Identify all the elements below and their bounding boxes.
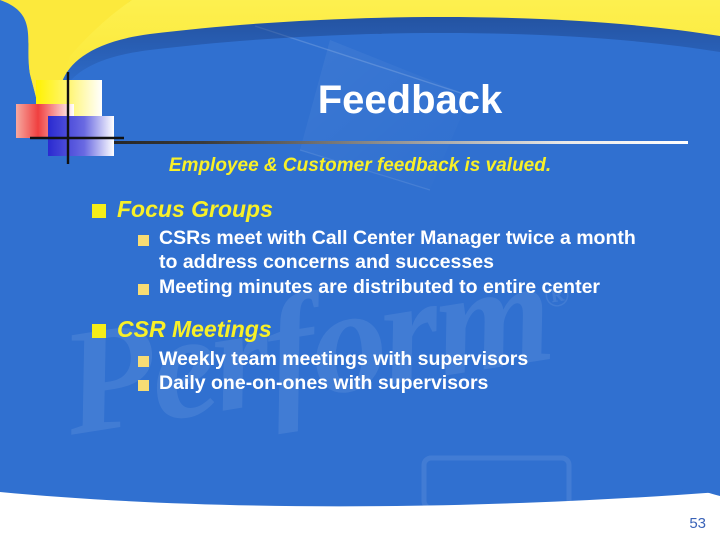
square-bullet-icon (92, 204, 106, 218)
slide-body: Focus Groups CSRs meet with Call Center … (92, 196, 692, 397)
level2-bullet-label: Daily one-on-ones with supervisors (159, 372, 488, 396)
square-bullet-icon (138, 284, 149, 295)
level1-bullet: Focus Groups (92, 196, 692, 223)
bullet-group-focus-groups: Focus Groups CSRs meet with Call Center … (92, 196, 692, 299)
level2-list: Weekly team meetings with supervisors Da… (92, 348, 692, 397)
square-bullet-icon (138, 235, 149, 246)
square-bullet-icon (92, 324, 106, 338)
slide-subtitle: Employee & Customer feedback is valued. (60, 155, 660, 177)
level2-bullet: CSRs meet with Call Center Manager twice… (92, 227, 692, 275)
bullet-group-csr-meetings: CSR Meetings Weekly team meetings with s… (92, 316, 692, 396)
square-bullet-icon (138, 380, 149, 391)
level2-bullet: Daily one-on-ones with supervisors (92, 372, 692, 396)
level2-bullet: Weekly team meetings with supervisors (92, 348, 692, 372)
square-bullet-icon (138, 356, 149, 367)
level2-bullet-label: Weekly team meetings with supervisors (159, 348, 528, 372)
level2-bullet: Meeting minutes are distributed to entir… (92, 276, 692, 300)
bullet-group-spacer (92, 300, 692, 316)
level1-bullet-label: Focus Groups (117, 196, 273, 223)
page-number: 53 (689, 515, 706, 532)
presentation-slide: Perform® Feedbac (0, 0, 720, 540)
logo-square-blue (48, 116, 114, 156)
level2-bullet-label: CSRs meet with Call Center Manager twice… (159, 227, 659, 275)
slide-title: Feedback (130, 78, 690, 123)
title-divider (66, 141, 688, 144)
level1-bullet: CSR Meetings (92, 316, 692, 343)
level2-list: CSRs meet with Call Center Manager twice… (92, 227, 692, 299)
level2-bullet-label: Meeting minutes are distributed to entir… (159, 276, 600, 300)
level1-bullet-label: CSR Meetings (117, 316, 272, 343)
